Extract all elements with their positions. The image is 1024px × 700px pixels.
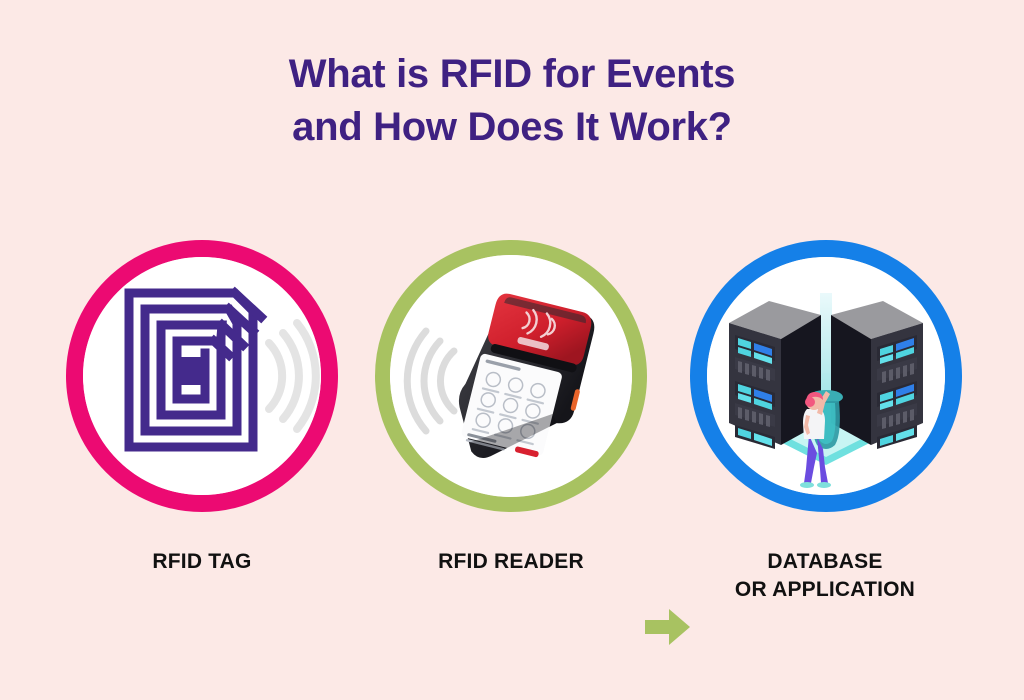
caption-rfid-tag-line-1: RFID TAG [42, 548, 362, 576]
handheld-rfid-reader-icon [390, 255, 632, 497]
caption-rfid-tag: RFID TAG [42, 548, 362, 576]
flow-step-rfid-tag [66, 240, 338, 512]
page-title-line-1: What is RFID for Events [0, 48, 1024, 101]
database-disc [707, 257, 945, 495]
flow-diagram [0, 240, 1024, 520]
page-title: What is RFID for Events and How Does It … [0, 48, 1024, 154]
rfid-tag-antenna-icon [83, 257, 321, 495]
rfid-tag-disc [83, 257, 321, 495]
flow-step-database [690, 240, 962, 512]
caption-database: DATABASE OR APPLICATION [665, 548, 985, 605]
flow-arrow-reader-to-database [645, 607, 691, 647]
caption-rfid-reader: RFID READER [351, 548, 671, 576]
server-rack-database-icon [707, 257, 945, 495]
caption-database-line-2: OR APPLICATION [665, 576, 985, 604]
infographic-canvas: What is RFID for Events and How Does It … [0, 0, 1024, 700]
rfid-reader-disc [390, 255, 632, 497]
caption-database-line-1: DATABASE [665, 548, 985, 576]
page-title-line-2: and How Does It Work? [0, 101, 1024, 154]
flow-step-rfid-reader [375, 240, 647, 512]
caption-rfid-reader-line-1: RFID READER [351, 548, 671, 576]
